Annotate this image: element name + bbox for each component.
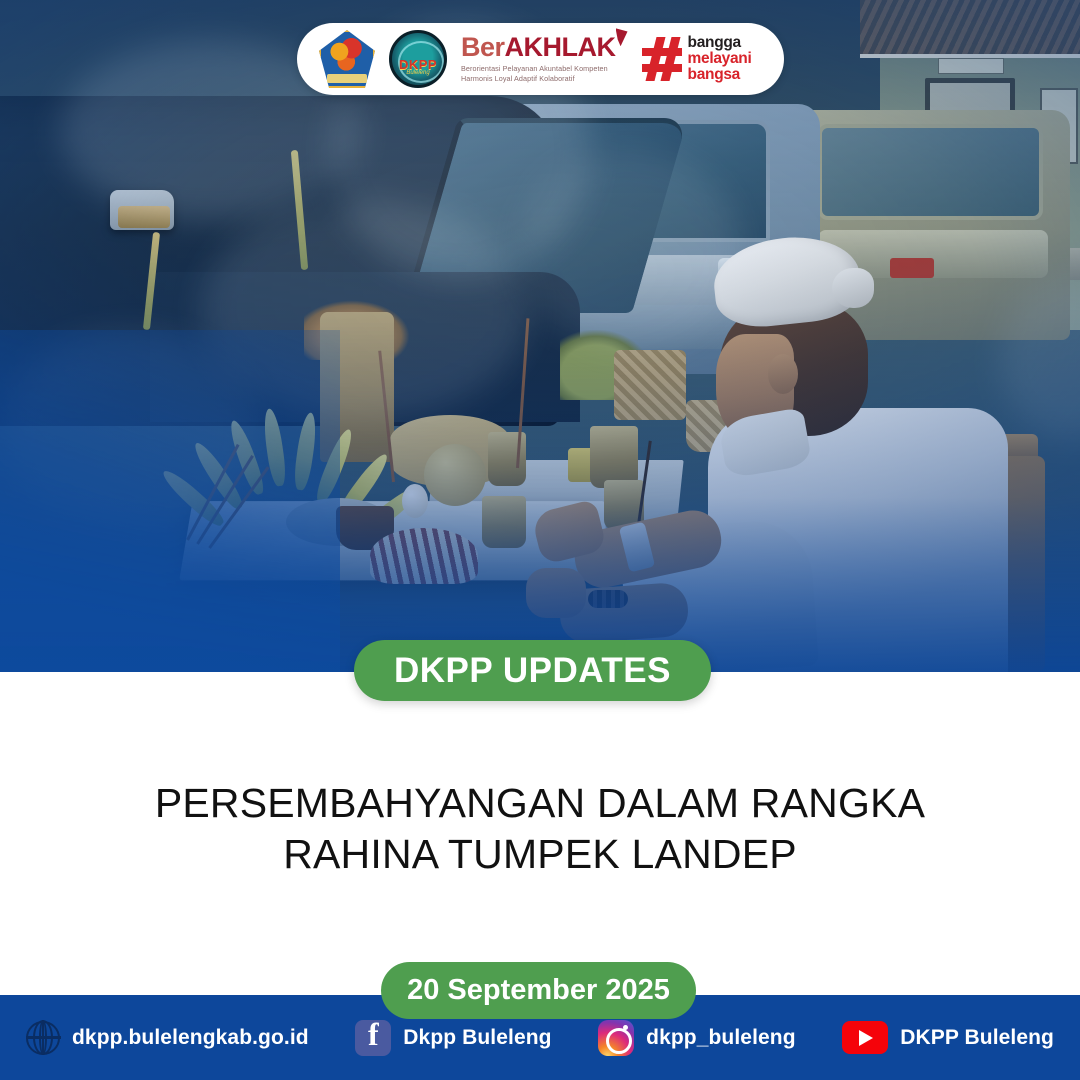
berakhlak-logo: BerAKHLAK Berorientasi Pelayanan Akuntab… bbox=[461, 34, 628, 83]
page-title-line-1: PERSEMBAHYANGAN DALAM RANGKA bbox=[60, 778, 1020, 829]
bangga-wordmark: bangga melayani bangsa bbox=[688, 35, 752, 82]
instagram-icon bbox=[598, 1020, 634, 1056]
page-title: PERSEMBAHYANGAN DALAM RANGKA RAHINA TUMP… bbox=[60, 778, 1020, 881]
facebook-label: Dkpp Buleleng bbox=[403, 1026, 551, 1050]
footer-item-youtube[interactable]: DKPP Buleleng bbox=[842, 1021, 1054, 1054]
social-media-poster: DKPP Buleleng BerAKHLAK Berorientasi Pel… bbox=[0, 0, 1080, 1080]
berakhlak-tagline-line-1: Berorientasi Pelayanan Akuntabel Kompete… bbox=[461, 64, 616, 74]
bangga-line-2: melayani bbox=[688, 51, 752, 67]
dkpp-logo-icon: DKPP Buleleng bbox=[389, 30, 447, 88]
youtube-icon bbox=[842, 1021, 888, 1054]
header-logo-bar: DKPP Buleleng BerAKHLAK Berorientasi Pel… bbox=[297, 23, 784, 95]
dkpp-updates-label: DKPP UPDATES bbox=[394, 651, 671, 691]
footer-contact-row: dkpp.bulelengkab.go.id Dkpp Buleleng dkp… bbox=[0, 1020, 1080, 1056]
event-photo bbox=[0, 0, 1080, 672]
berakhlak-tagline: Berorientasi Pelayanan Akuntabel Kompete… bbox=[461, 64, 616, 83]
facebook-icon bbox=[355, 1020, 391, 1056]
page-title-line-2: RAHINA TUMPEK LANDEP bbox=[60, 829, 1020, 880]
buleleng-regency-crest-icon bbox=[319, 30, 375, 88]
instagram-label: dkpp_buleleng bbox=[646, 1026, 795, 1050]
globe-icon bbox=[26, 1021, 60, 1055]
footer-item-instagram[interactable]: dkpp_buleleng bbox=[598, 1020, 795, 1056]
youtube-label: DKPP Buleleng bbox=[900, 1026, 1054, 1050]
hashtag-icon bbox=[642, 37, 682, 81]
berakhlak-prefix: Ber bbox=[461, 32, 505, 62]
crest-ribbon-band bbox=[327, 74, 367, 83]
berakhlak-wordmark: BerAKHLAK bbox=[461, 34, 616, 61]
crest-emblem-figure bbox=[328, 38, 366, 72]
berakhlak-suffix: AKHLAK bbox=[505, 32, 616, 62]
bangga-line-1: bangga bbox=[688, 35, 752, 51]
bangga-melayani-bangsa-logo: bangga melayani bangsa bbox=[642, 35, 752, 82]
bangga-line-3: bangsa bbox=[688, 67, 752, 83]
berakhlak-tagline-line-2: Harmonis Loyal Adaptif Kolaboratif bbox=[461, 74, 616, 84]
dkpp-updates-badge: DKPP UPDATES bbox=[354, 640, 711, 701]
footer-item-website[interactable]: dkpp.bulelengkab.go.id bbox=[26, 1021, 309, 1055]
berakhlak-check-icon bbox=[616, 28, 628, 46]
photo-blue-overlay-left bbox=[0, 330, 340, 672]
footer-item-facebook[interactable]: Dkpp Buleleng bbox=[355, 1020, 551, 1056]
website-label: dkpp.bulelengkab.go.id bbox=[72, 1026, 309, 1050]
dkpp-logo-subtitle: Buleleng bbox=[392, 70, 444, 76]
event-date-badge: 20 September 2025 bbox=[381, 962, 696, 1019]
event-date-label: 20 September 2025 bbox=[407, 974, 670, 1007]
